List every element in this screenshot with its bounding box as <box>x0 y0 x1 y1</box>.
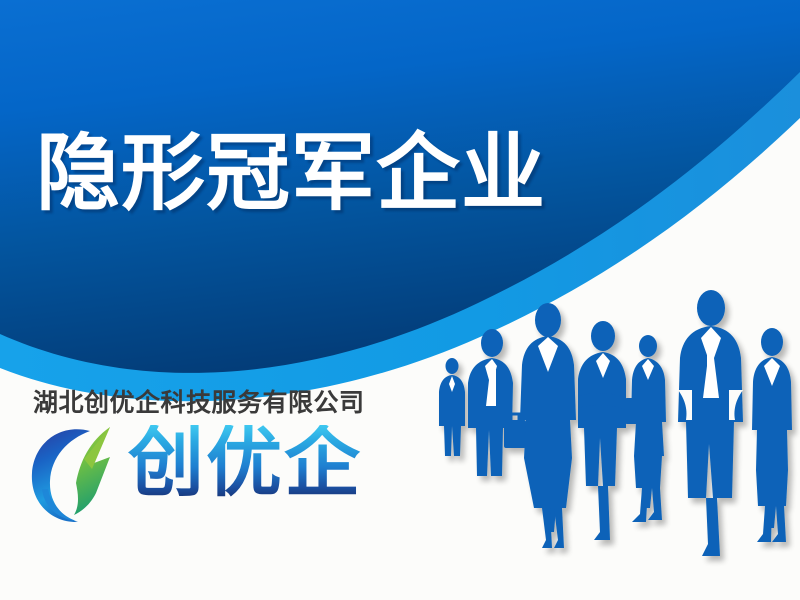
presentation-slide: 隐形冠军企业 湖北创优企科技服务有限公司 创优企 <box>0 0 800 600</box>
logo-mark-icon <box>24 423 124 527</box>
silhouette-person-4 <box>578 321 626 540</box>
logo-wordmark: 创优企 <box>128 425 362 501</box>
business-people-silhouettes <box>420 280 800 580</box>
company-name: 湖北创优企科技服务有限公司 <box>33 383 365 419</box>
silhouette-person-3 <box>520 303 576 548</box>
company-logo: 创优企 <box>24 423 334 527</box>
silhouette-person-2 <box>468 329 526 476</box>
silhouette-person-6 <box>678 290 743 556</box>
page-title: 隐形冠军企业 <box>36 131 546 215</box>
silhouette-person-5 <box>625 335 666 522</box>
silhouette-person-1 <box>439 358 465 456</box>
silhouette-person-7 <box>752 328 792 542</box>
